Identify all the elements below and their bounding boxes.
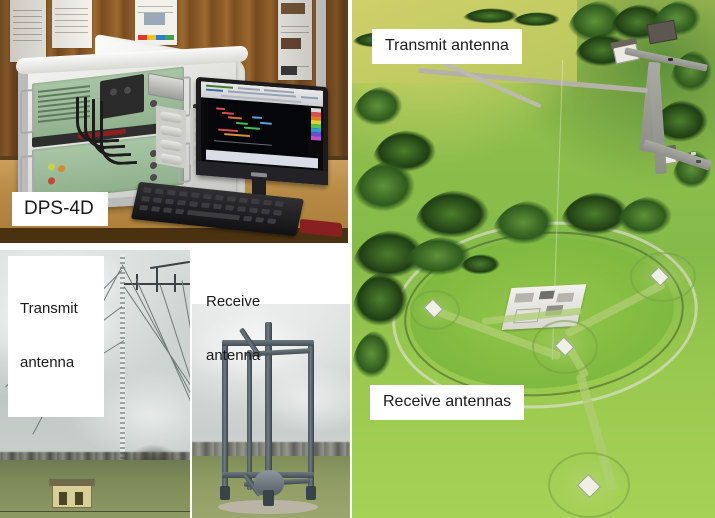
hut-window — [75, 492, 83, 505]
label-line-2: antenna — [206, 347, 260, 365]
leg-base-left — [220, 486, 230, 500]
equipment-hut — [52, 484, 92, 508]
fence-line — [0, 511, 190, 512]
leg-base-right — [306, 486, 316, 500]
label-transmit-antenna-photo: Transmit antenna — [8, 256, 104, 417]
loop-crossbar-top-right — [266, 340, 314, 346]
coax-cable — [100, 99, 137, 166]
label-line-1: Transmit — [20, 300, 78, 318]
dps-4d-equipment-photo: DPS-4D — [0, 0, 348, 243]
label-aerial-transmit-antenna: Transmit antenna — [372, 29, 522, 64]
label-aerial-receive-antennas: Receive antennas — [370, 385, 524, 420]
transmit-antenna-photo: Transmit antenna — [0, 250, 190, 518]
computer-monitor — [196, 77, 328, 185]
label-receive-antenna-photo: Receive antenna — [200, 254, 266, 404]
grass-field — [0, 460, 190, 518]
parked-car — [696, 160, 701, 163]
label-line-1: Receive — [206, 293, 260, 311]
parked-car — [691, 152, 696, 155]
antenna-element — [174, 274, 176, 292]
leg-base-center — [263, 490, 274, 506]
monitor-screen — [201, 81, 323, 171]
parked-car — [668, 58, 673, 61]
label-line-2: antenna — [20, 354, 78, 372]
receive-antenna-photo: Receive antenna — [192, 250, 350, 518]
hut-roof — [49, 479, 95, 486]
antenna-element — [156, 268, 158, 292]
loop-upright-right — [308, 340, 314, 492]
tree-cluster — [460, 254, 510, 288]
label-dps-4d: DPS-4D — [12, 192, 108, 226]
ionogram-color-legend — [311, 107, 321, 140]
aerial-site-photo: Transmit antenna Receive antennas — [352, 0, 715, 518]
hut-door — [59, 492, 67, 505]
composite-figure: DPS-4D Transmit — [0, 0, 715, 518]
ionogram-plot — [208, 99, 308, 157]
case-handle-upper — [20, 89, 34, 135]
front-slot-plate — [156, 105, 186, 168]
